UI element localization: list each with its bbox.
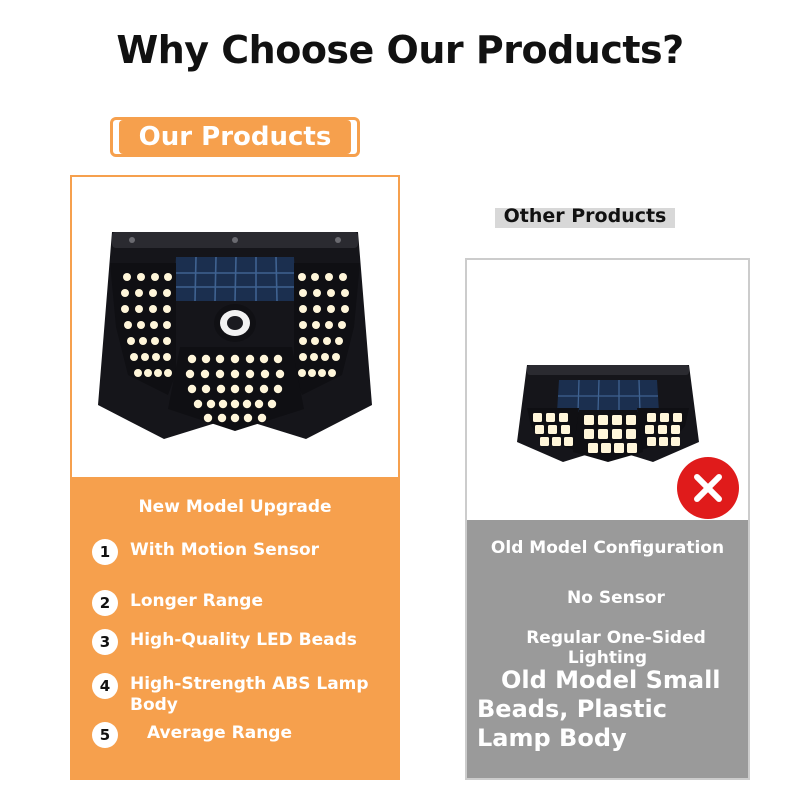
feature-text-5: Average Range xyxy=(130,722,292,744)
feature-number-3: 3 xyxy=(92,629,118,655)
other-products-card: Old Model Configuration No Sensor Regula… xyxy=(465,258,750,780)
feature-text-3: High-Quality LED Beads xyxy=(130,629,357,651)
feature-number-4: 4 xyxy=(92,673,118,699)
our-feature-1: 1 With Motion Sensor xyxy=(92,539,382,565)
feature-number-5: 5 xyxy=(92,722,118,748)
our-feature-3: 3 High-Quality LED Beads xyxy=(92,629,382,655)
feature-number-2: 2 xyxy=(92,590,118,616)
feature-text-1: With Motion Sensor xyxy=(130,539,319,561)
our-products-card: New Model Upgrade 1 With Motion Sensor 2… xyxy=(70,175,400,780)
solar-wall-lamp-new-icon xyxy=(72,177,398,473)
reject-badge xyxy=(677,457,739,519)
our-products-feature-panel: New Model Upgrade 1 With Motion Sensor 2… xyxy=(72,477,398,778)
our-products-banner-label: Our Products xyxy=(119,120,351,154)
cross-icon xyxy=(677,457,739,519)
page-title: Why Choose Our Products? xyxy=(0,28,800,72)
other-products-label: Other Products xyxy=(490,205,680,227)
our-feature-4: 4 High-Strength ABS Lamp Body xyxy=(92,673,382,716)
our-product-image xyxy=(72,177,398,477)
other-products-heading: Old Model Configuration xyxy=(467,538,748,558)
other-spec-line-3: Old Model Small Beads, Plastic Lamp Body xyxy=(467,666,748,753)
our-feature-5: 5 Average Range xyxy=(92,722,382,748)
other-products-spec-panel: Old Model Configuration No Sensor Regula… xyxy=(467,520,748,778)
other-spec-line-1: No Sensor xyxy=(467,588,748,608)
feature-number-1: 1 xyxy=(92,539,118,565)
our-products-heading: New Model Upgrade xyxy=(72,497,398,517)
other-spec-line-2: Regular One-Sided Lighting xyxy=(467,628,748,668)
feature-text-2: Longer Range xyxy=(130,590,263,612)
feature-text-4: High-Strength ABS Lamp Body xyxy=(130,673,382,716)
our-feature-2: 2 Longer Range xyxy=(92,590,382,616)
